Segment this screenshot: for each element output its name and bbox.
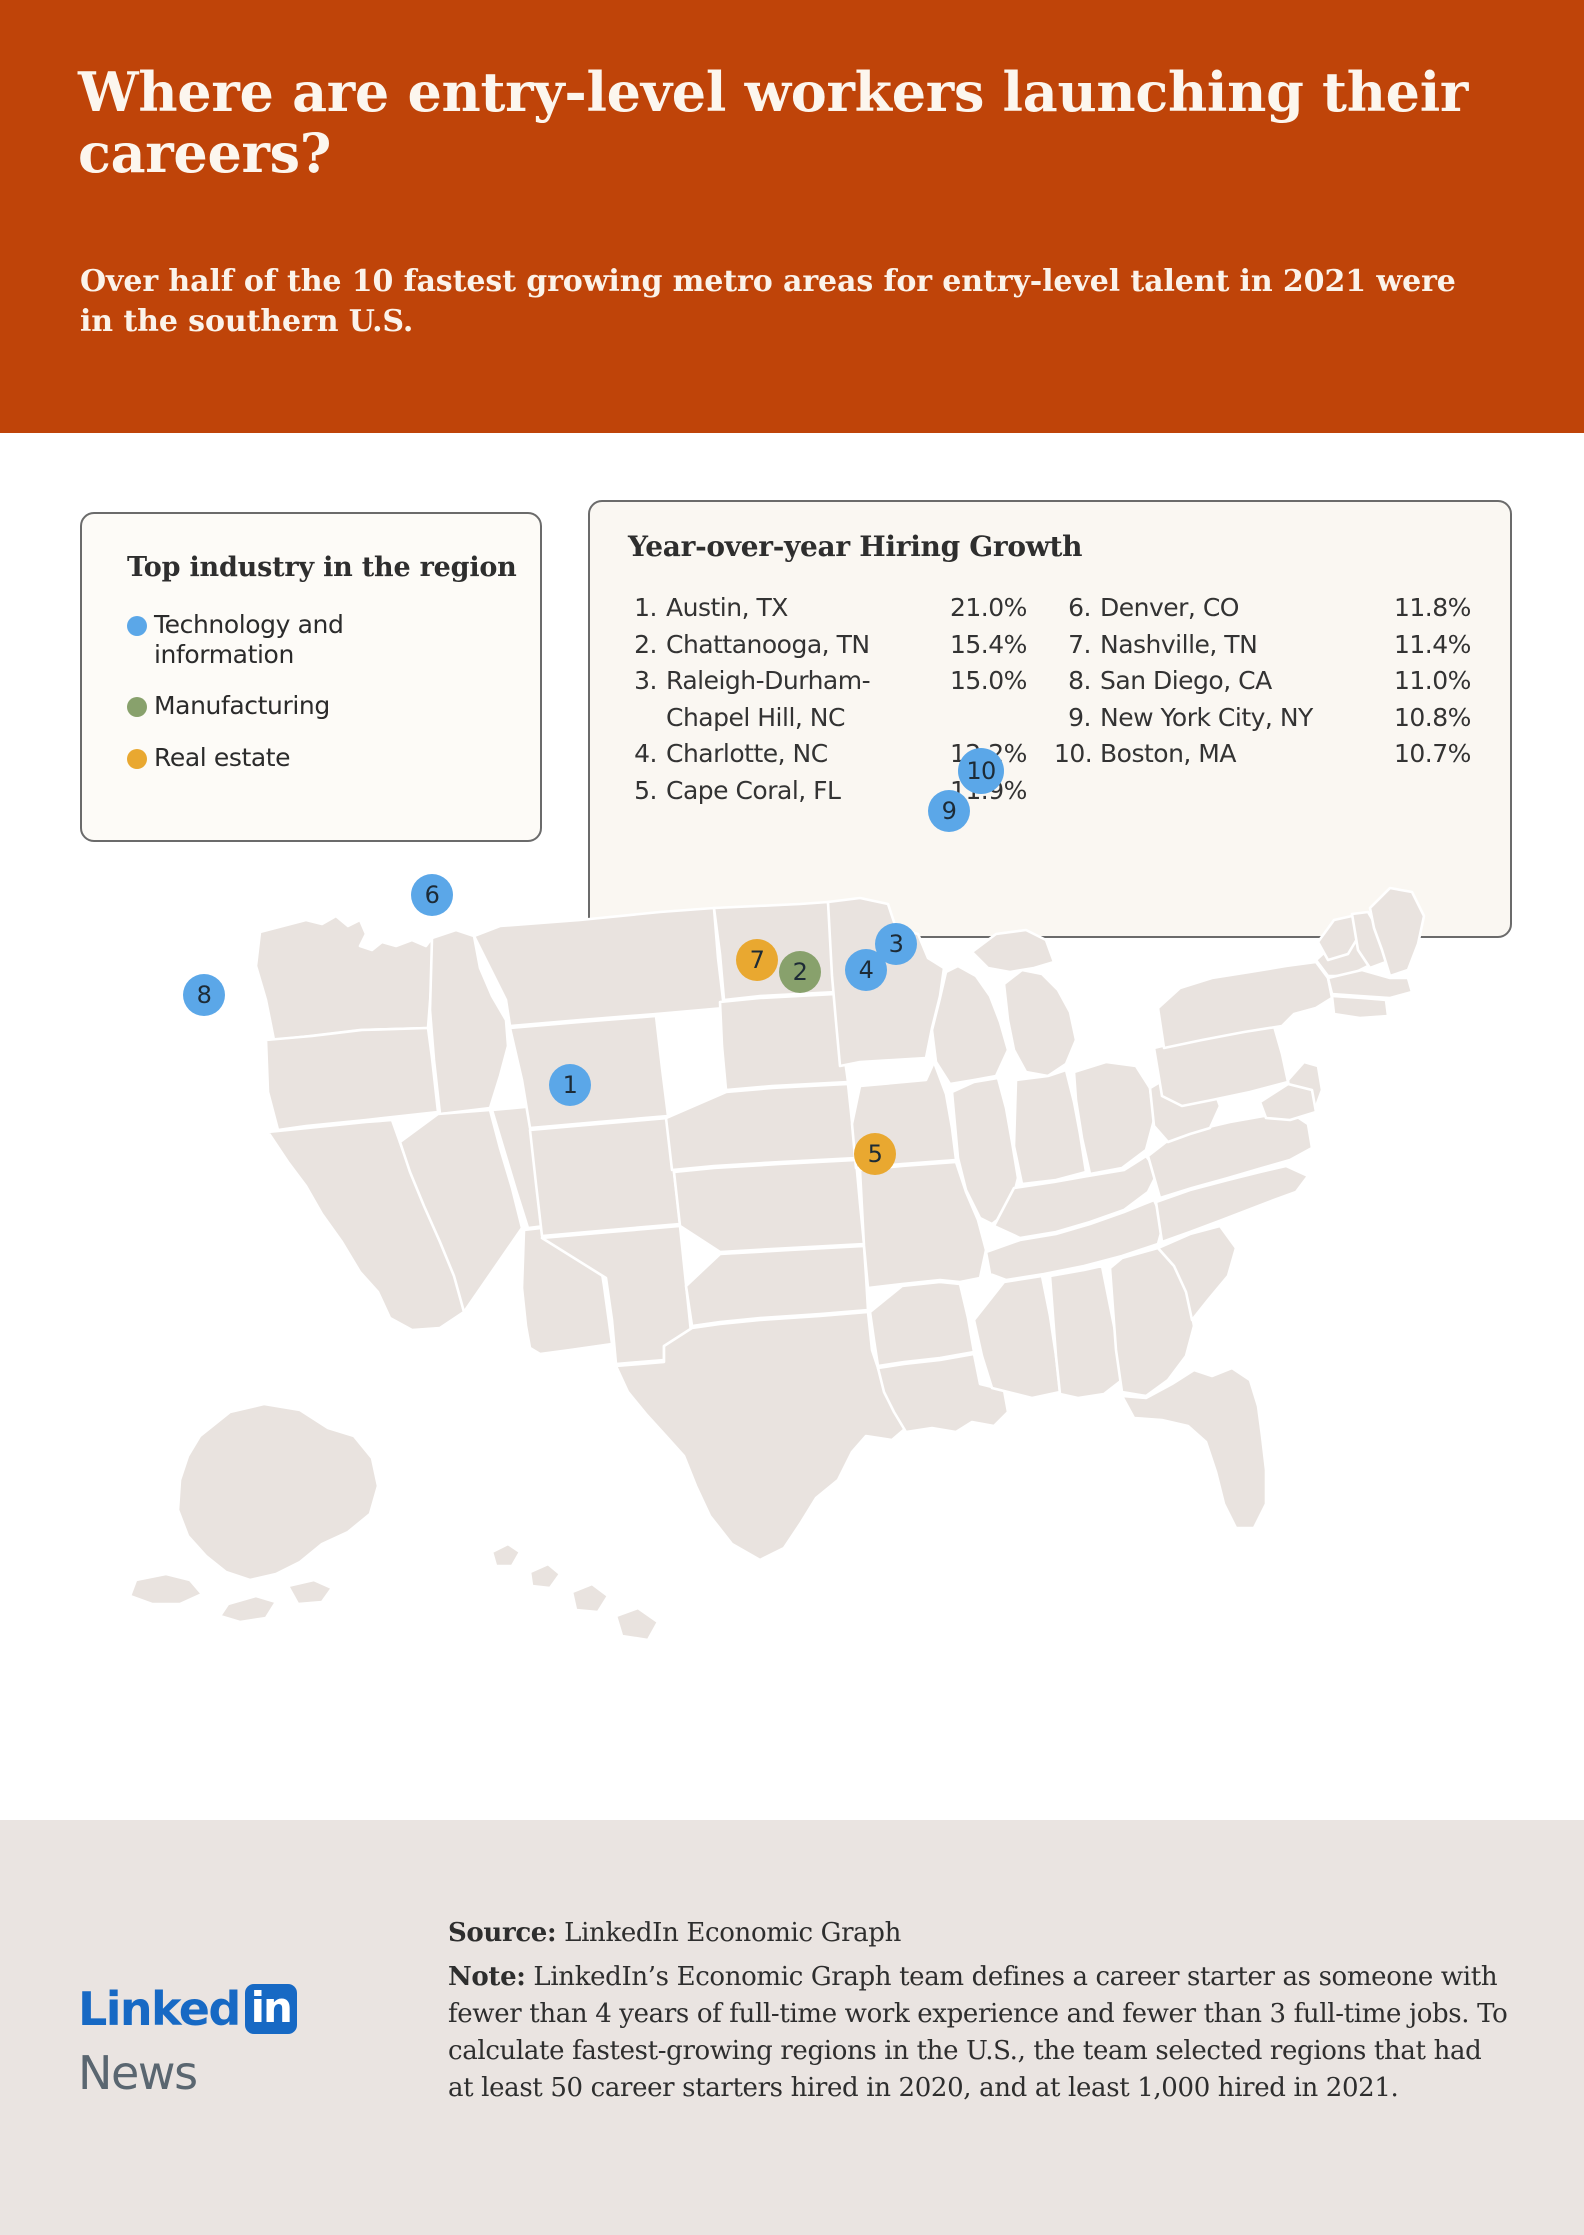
ranking-row: 1.Austin, TX21.0%	[622, 590, 1054, 627]
ranking-position: 10.	[1054, 736, 1100, 773]
ranking-position: 4.	[622, 736, 666, 773]
note-text: LinkedIn’s Economic Graph team defines a…	[448, 1962, 1507, 2103]
map-marker-label: 9	[942, 797, 957, 825]
ranking-city-line1: New York City, NY	[1100, 703, 1313, 732]
map-marker-6[interactable]: 6	[411, 874, 453, 916]
legend-color-dot-icon	[127, 616, 147, 636]
footnotes: Source: LinkedIn Economic Graph Note: Li…	[448, 1915, 1508, 2107]
footer-band: Linked in News Source: LinkedIn Economic…	[0, 1820, 1584, 2235]
map-marker-label: 8	[197, 981, 212, 1009]
ranking-position: 1.	[622, 590, 666, 627]
ranking-city-line1: Raleigh-Durham-	[666, 666, 870, 695]
map-marker-label: 10	[966, 757, 995, 785]
ranking-city-line1: San Diego, CA	[1100, 666, 1272, 695]
ranking-city-name: Nashville, TN	[1100, 627, 1394, 664]
legend-item-label: Manufacturing	[154, 691, 330, 721]
map-marker-label: 6	[425, 881, 440, 909]
map-marker-8[interactable]: 8	[183, 974, 225, 1016]
ranking-city-line1: Austin, TX	[666, 593, 788, 622]
ranking-growth-value: 15.0%	[950, 663, 1054, 700]
source-text: LinkedIn Economic Graph	[556, 1918, 901, 1948]
ranking-title: Year-over-year Hiring Growth	[628, 530, 1082, 563]
ranking-row: 9.New York City, NY10.8%	[1054, 700, 1486, 737]
ranking-city-line1: Charlotte, NC	[666, 739, 828, 768]
ranking-growth-value: 11.0%	[1394, 663, 1486, 700]
map-marker-7[interactable]: 7	[736, 939, 778, 981]
ranking-city-line1: Nashville, TN	[1100, 630, 1257, 659]
ranking-city-name: Denver, CO	[1100, 590, 1394, 627]
us-states-shape	[130, 888, 1424, 1640]
ranking-city-name: Charlotte, NC	[666, 736, 950, 773]
map-marker-1[interactable]: 1	[549, 1064, 591, 1106]
ranking-city-name: Raleigh-Durham-Chapel Hill, NC	[666, 663, 950, 736]
note-line: Note: LinkedIn’s Economic Graph team def…	[448, 1959, 1508, 2107]
ranking-position: 2.	[622, 627, 666, 664]
ranking-growth-value: 15.4%	[950, 627, 1054, 664]
ranking-columns: 1.Austin, TX21.0%2.Chattanooga, TN15.4%3…	[622, 590, 1486, 809]
ranking-position: 7.	[1054, 627, 1100, 664]
ranking-city-name: New York City, NY	[1100, 700, 1394, 737]
infographic-page: Where are entry-level workers launching …	[0, 0, 1584, 2235]
legend-item[interactable]: Manufacturing	[127, 691, 507, 721]
ranking-row: 2.Chattanooga, TN15.4%	[622, 627, 1054, 664]
ranking-row: 7.Nashville, TN11.4%	[1054, 627, 1486, 664]
map-marker-label: 7	[750, 946, 765, 974]
ranking-city-line1: Cape Coral, FL	[666, 776, 840, 805]
page-title: Where are entry-level workers launching …	[78, 62, 1478, 184]
us-map: 12345678910	[0, 880, 1584, 1820]
ranking-column-right: 6.Denver, CO11.8%7.Nashville, TN11.4%8.S…	[1054, 590, 1486, 809]
header-banner: Where are entry-level workers launching …	[0, 0, 1584, 433]
ranking-row: 3.Raleigh-Durham-Chapel Hill, NC15.0%	[622, 663, 1054, 736]
ranking-position: 6.	[1054, 590, 1100, 627]
ranking-position: 8.	[1054, 663, 1100, 700]
brand-news-text: News	[78, 2046, 297, 2100]
us-map-svg	[60, 880, 1530, 1700]
ranking-city-line1: Denver, CO	[1100, 593, 1239, 622]
ranking-growth-value: 10.8%	[1394, 700, 1486, 737]
legend-item-label: Technology and information	[154, 610, 444, 669]
note-label: Note:	[448, 1962, 526, 1992]
legend-title: Top industry in the region	[127, 552, 517, 583]
ranking-city-name: San Diego, CA	[1100, 663, 1394, 700]
brand-linkedin: Linked in	[78, 1982, 297, 2036]
linkedin-news-logo: Linked in News	[78, 1982, 297, 2100]
ranking-growth-value: 11.8%	[1394, 590, 1486, 627]
legend-color-dot-icon	[127, 697, 147, 717]
ranking-city-line2: Chapel Hill, NC	[666, 700, 950, 737]
map-marker-4[interactable]: 4	[845, 949, 887, 991]
source-label: Source:	[448, 1918, 556, 1948]
page-subtitle: Over half of the 10 fastest growing metr…	[80, 262, 1460, 342]
ranking-card: Year-over-year Hiring Growth 1.Austin, T…	[588, 500, 1512, 938]
map-marker-label: 1	[563, 1071, 578, 1099]
ranking-city-name: Austin, TX	[666, 590, 950, 627]
ranking-city-name: Chattanooga, TN	[666, 627, 950, 664]
map-marker-label: 3	[889, 930, 904, 958]
legend-color-dot-icon	[127, 749, 147, 769]
legend-item[interactable]: Technology and information	[127, 610, 507, 669]
linkedin-in-badge: in	[245, 1984, 297, 2034]
map-marker-label: 2	[793, 958, 808, 986]
ranking-city-line1: Boston, MA	[1100, 739, 1236, 768]
legend-card: Top industry in the region Technology an…	[80, 512, 542, 842]
ranking-position: 3.	[622, 663, 666, 700]
map-marker-10[interactable]: 10	[958, 748, 1004, 794]
ranking-growth-value: 11.4%	[1394, 627, 1486, 664]
ranking-city-name: Cape Coral, FL	[666, 773, 950, 810]
map-marker-9[interactable]: 9	[928, 790, 970, 832]
map-marker-label: 5	[868, 1140, 883, 1168]
map-marker-5[interactable]: 5	[854, 1133, 896, 1175]
brand-linked-text: Linked	[78, 1982, 240, 2036]
legend-item[interactable]: Real estate	[127, 743, 507, 773]
ranking-row: 10.Boston, MA10.7%	[1054, 736, 1486, 773]
ranking-city-name: Boston, MA	[1100, 736, 1394, 773]
legend-item-list: Technology and informationManufacturingR…	[127, 610, 507, 794]
map-marker-label: 4	[859, 956, 874, 984]
ranking-growth-value: 21.0%	[950, 590, 1054, 627]
legend-item-label: Real estate	[154, 743, 290, 773]
ranking-row: 6.Denver, CO11.8%	[1054, 590, 1486, 627]
ranking-city-line1: Chattanooga, TN	[666, 630, 870, 659]
ranking-position: 9.	[1054, 700, 1100, 737]
ranking-growth-value: 10.7%	[1394, 736, 1486, 773]
ranking-position: 5.	[622, 773, 666, 810]
ranking-row: 8.San Diego, CA11.0%	[1054, 663, 1486, 700]
map-marker-2[interactable]: 2	[779, 951, 821, 993]
source-line: Source: LinkedIn Economic Graph	[448, 1915, 1508, 1952]
